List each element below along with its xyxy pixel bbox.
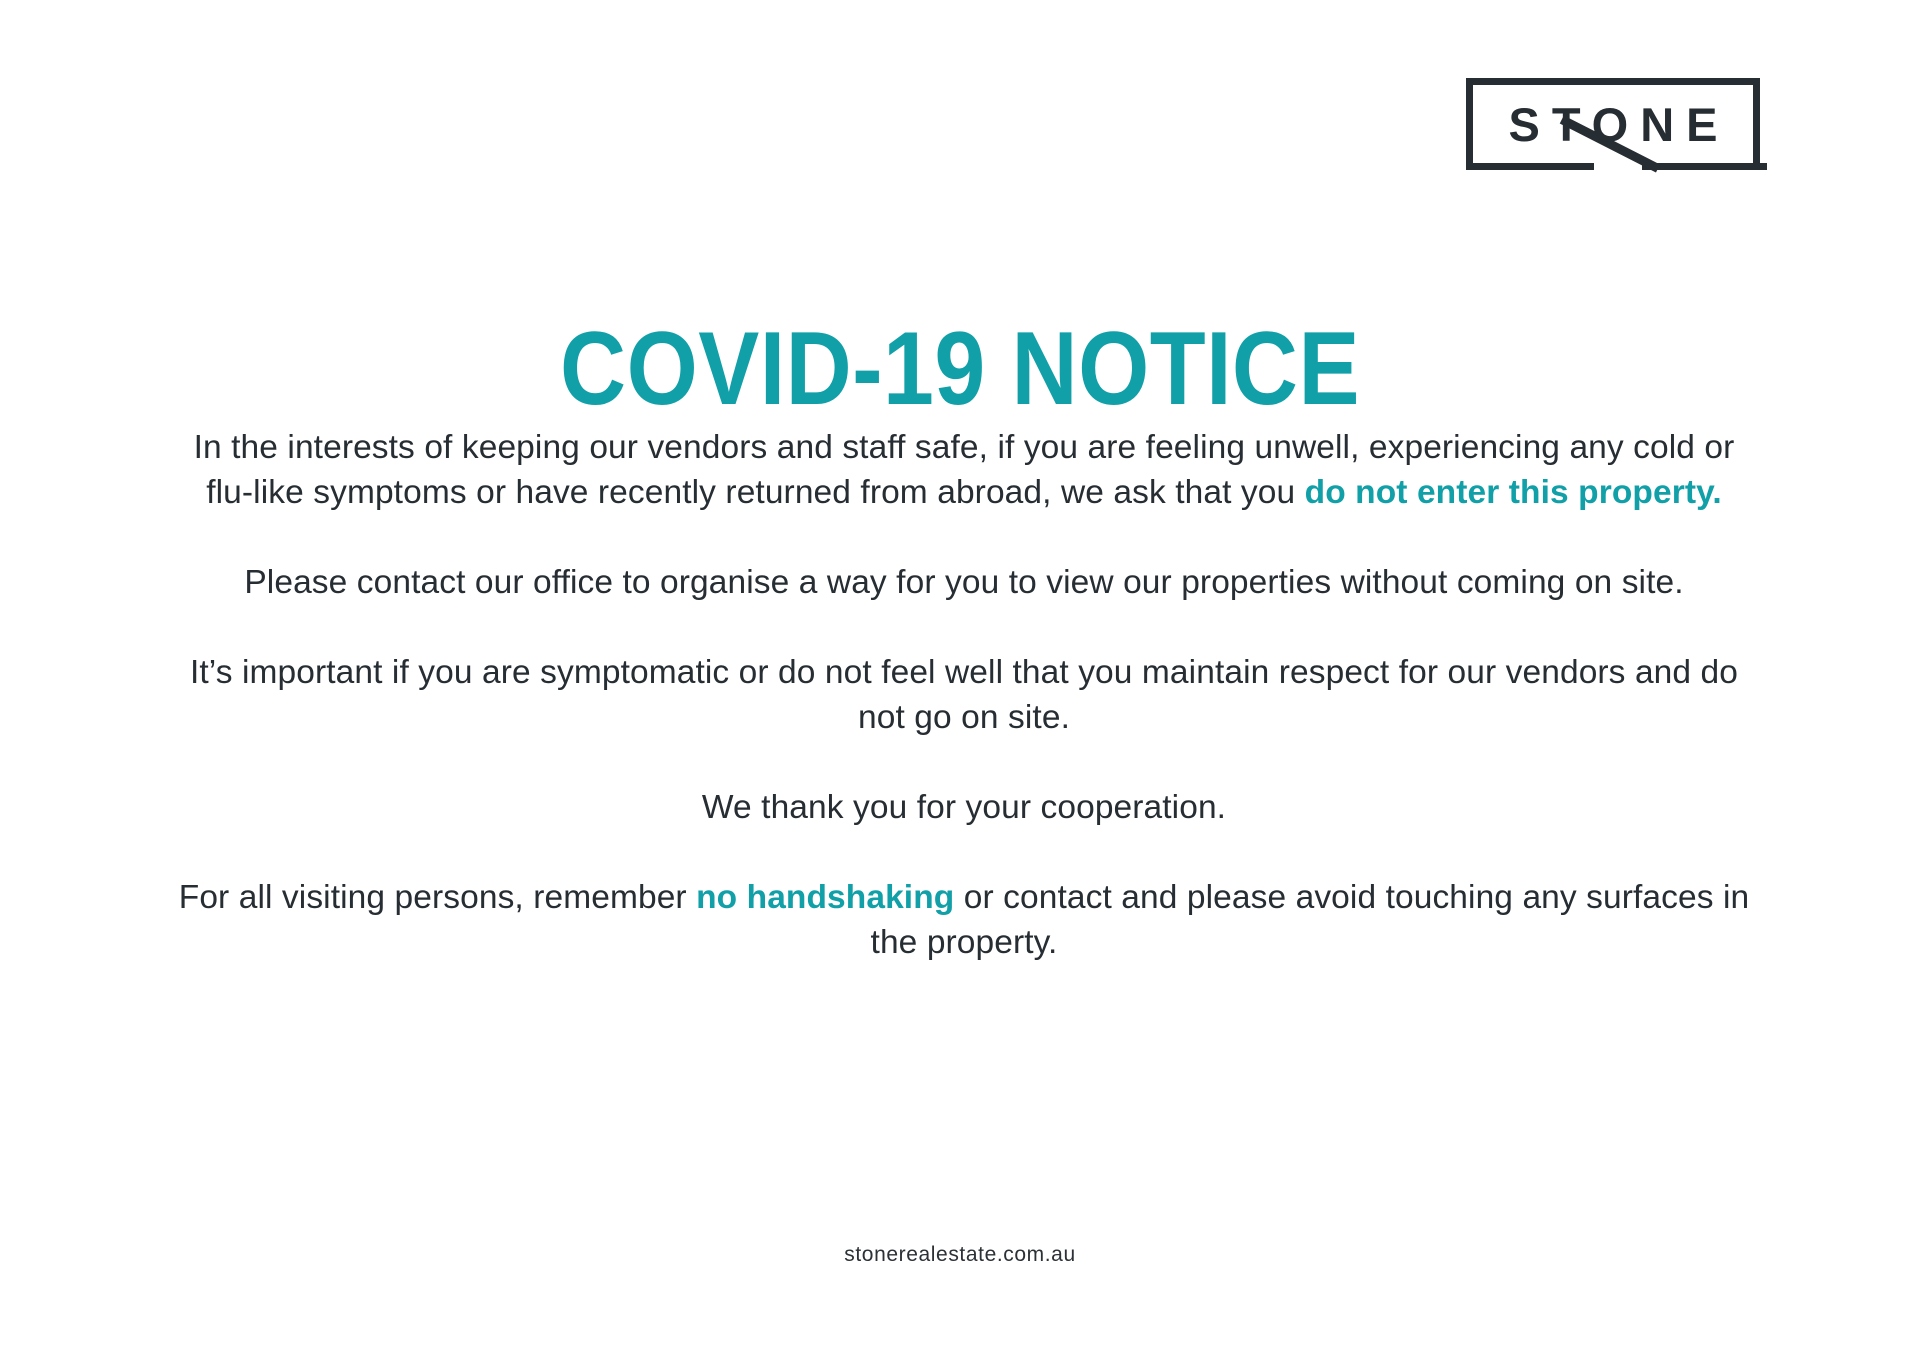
- paragraph-respect-vendors: It’s important if you are symptomatic or…: [168, 650, 1760, 740]
- footer-website[interactable]: stonerealestate.com.au: [0, 1243, 1920, 1267]
- paragraph-do-not-enter: In the interests of keeping our vendors …: [168, 425, 1760, 515]
- body-text: Please contact our office to organise a …: [244, 564, 1683, 601]
- body-text: We thank you for your cooperation.: [702, 789, 1226, 826]
- emphasised-text: no handshaking: [696, 879, 954, 916]
- body-text: For all visiting persons, remember: [179, 879, 696, 916]
- stone-logo: STONE: [1466, 78, 1764, 202]
- paragraph-no-handshaking: For all visiting persons, remember no ha…: [168, 875, 1760, 965]
- body-text: It’s important if you are symptomatic or…: [190, 654, 1738, 736]
- logo-wordmark: STONE: [1466, 78, 1760, 170]
- body-text: or contact and please avoid touching any…: [871, 879, 1750, 961]
- page-title: COVID-19 NOTICE: [115, 317, 1805, 421]
- notice-body: In the interests of keeping our vendors …: [168, 425, 1760, 965]
- covid-notice-poster: STONE COVID-19 NOTICE In the interests o…: [0, 0, 1920, 1357]
- emphasised-text: do not enter this property.: [1305, 474, 1722, 511]
- paragraph-contact-office: Please contact our office to organise a …: [168, 560, 1760, 605]
- paragraph-thank-you: We thank you for your cooperation.: [168, 785, 1760, 830]
